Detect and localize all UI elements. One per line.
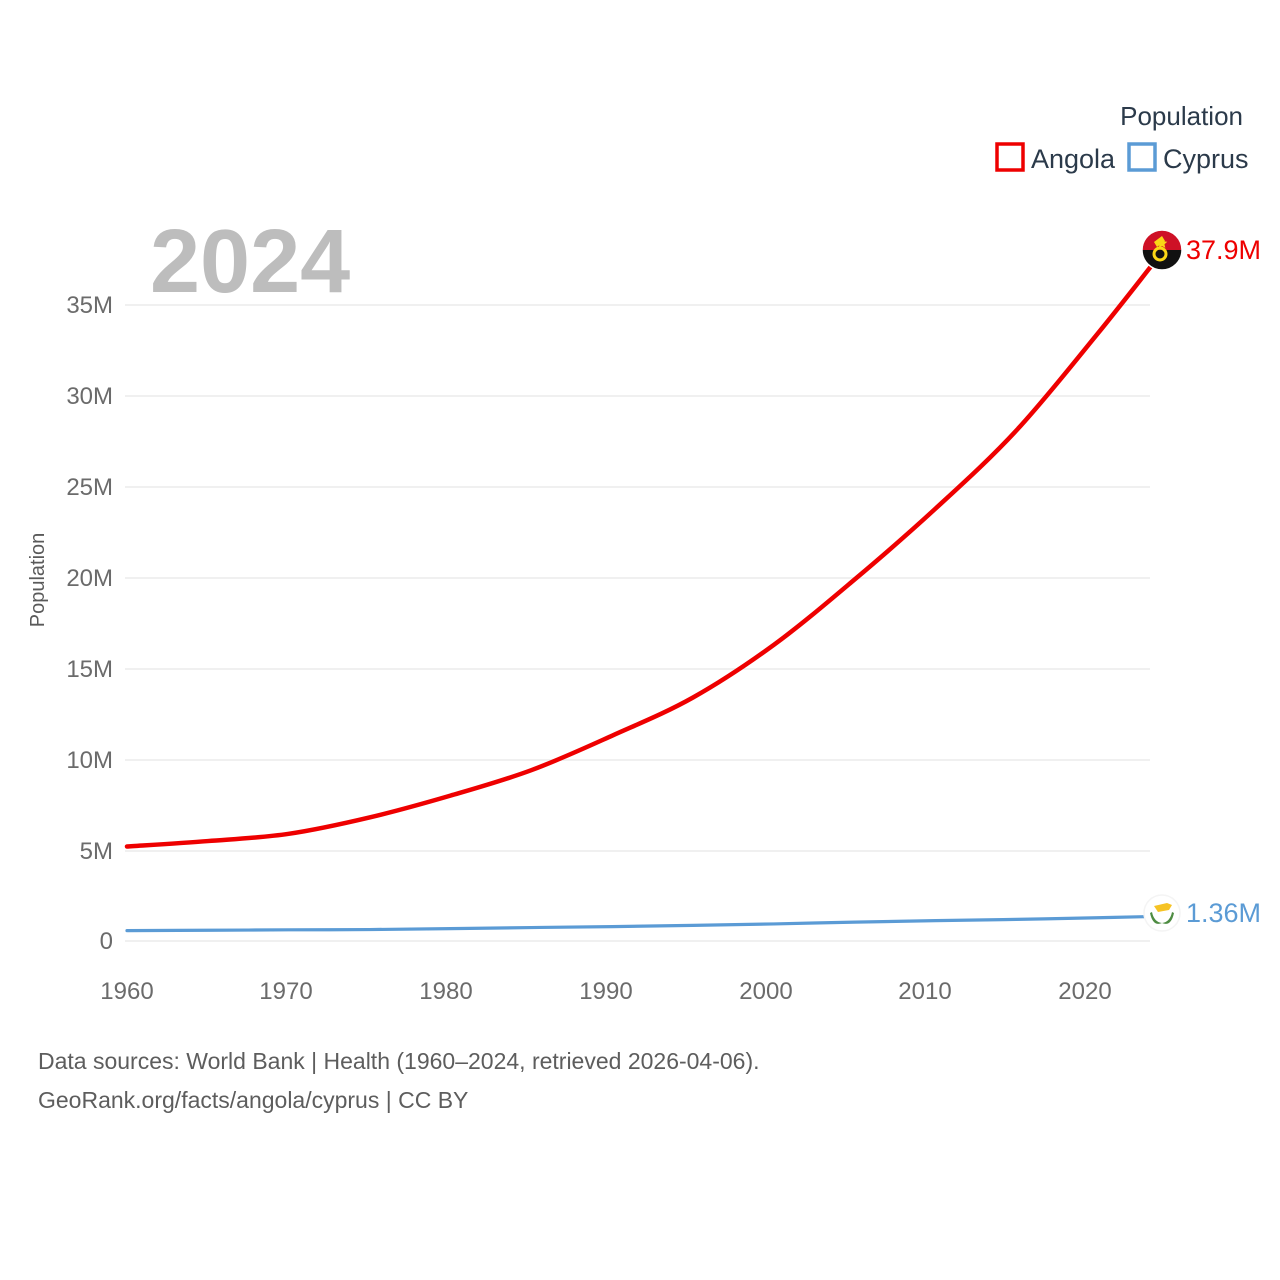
watermark-year: 2024	[150, 212, 350, 312]
legend-item-angola[interactable]: Angola	[997, 144, 1116, 174]
cyprus-endpoint-value: 1.36M	[1186, 898, 1261, 928]
x-tick-1970: 1970	[259, 978, 312, 1005]
y-tick-0: 0	[100, 928, 113, 955]
angola-endpoint-value: 37.9M	[1186, 235, 1261, 265]
x-tick-1990: 1990	[579, 978, 632, 1005]
legend-title: Population	[1120, 101, 1243, 131]
series-line-angola	[127, 252, 1162, 846]
y-tick-25m: 25M	[66, 474, 113, 501]
chart-canvas: Population Angola Cyprus 2024 0	[0, 0, 1280, 1280]
footer: Data sources: World Bank | Health (1960–…	[38, 1048, 760, 1113]
legend-swatch-angola	[997, 144, 1023, 170]
legend-label-cyprus: Cyprus	[1163, 144, 1249, 174]
x-axis: 1960 1970 1980 1990 2000 2010 2020	[100, 978, 1111, 1005]
legend-item-cyprus[interactable]: Cyprus	[1129, 144, 1249, 174]
legend-swatch-cyprus	[1129, 144, 1155, 170]
y-tick-10m: 10M	[66, 747, 113, 774]
cyprus-endpoint-marker[interactable]: 1.36M	[1144, 895, 1261, 931]
x-tick-1960: 1960	[100, 978, 153, 1005]
y-tick-20m: 20M	[66, 565, 113, 592]
y-tick-35m: 35M	[66, 292, 113, 319]
x-tick-2020: 2020	[1058, 978, 1111, 1005]
x-tick-1980: 1980	[419, 978, 472, 1005]
y-tick-5m: 5M	[80, 838, 113, 865]
footer-line-attribution: GeoRank.org/facts/angola/cyprus | CC BY	[38, 1087, 468, 1113]
x-tick-2010: 2010	[898, 978, 951, 1005]
gridlines	[125, 305, 1150, 941]
y-axis: 0 5M 10M 15M 20M 25M 30M 35M Population	[27, 292, 113, 955]
legend: Population Angola Cyprus	[997, 101, 1249, 174]
y-tick-15m: 15M	[66, 656, 113, 683]
y-axis-title: Population	[27, 533, 49, 628]
x-tick-2000: 2000	[739, 978, 792, 1005]
angola-endpoint-marker[interactable]: 37.9M	[1142, 230, 1261, 270]
footer-line-sources: Data sources: World Bank | Health (1960–…	[38, 1048, 760, 1074]
population-line-chart: Population Angola Cyprus 2024 0	[0, 0, 1280, 1280]
y-tick-30m: 30M	[66, 383, 113, 410]
series-line-cyprus	[127, 916, 1162, 930]
legend-label-angola: Angola	[1031, 144, 1116, 174]
